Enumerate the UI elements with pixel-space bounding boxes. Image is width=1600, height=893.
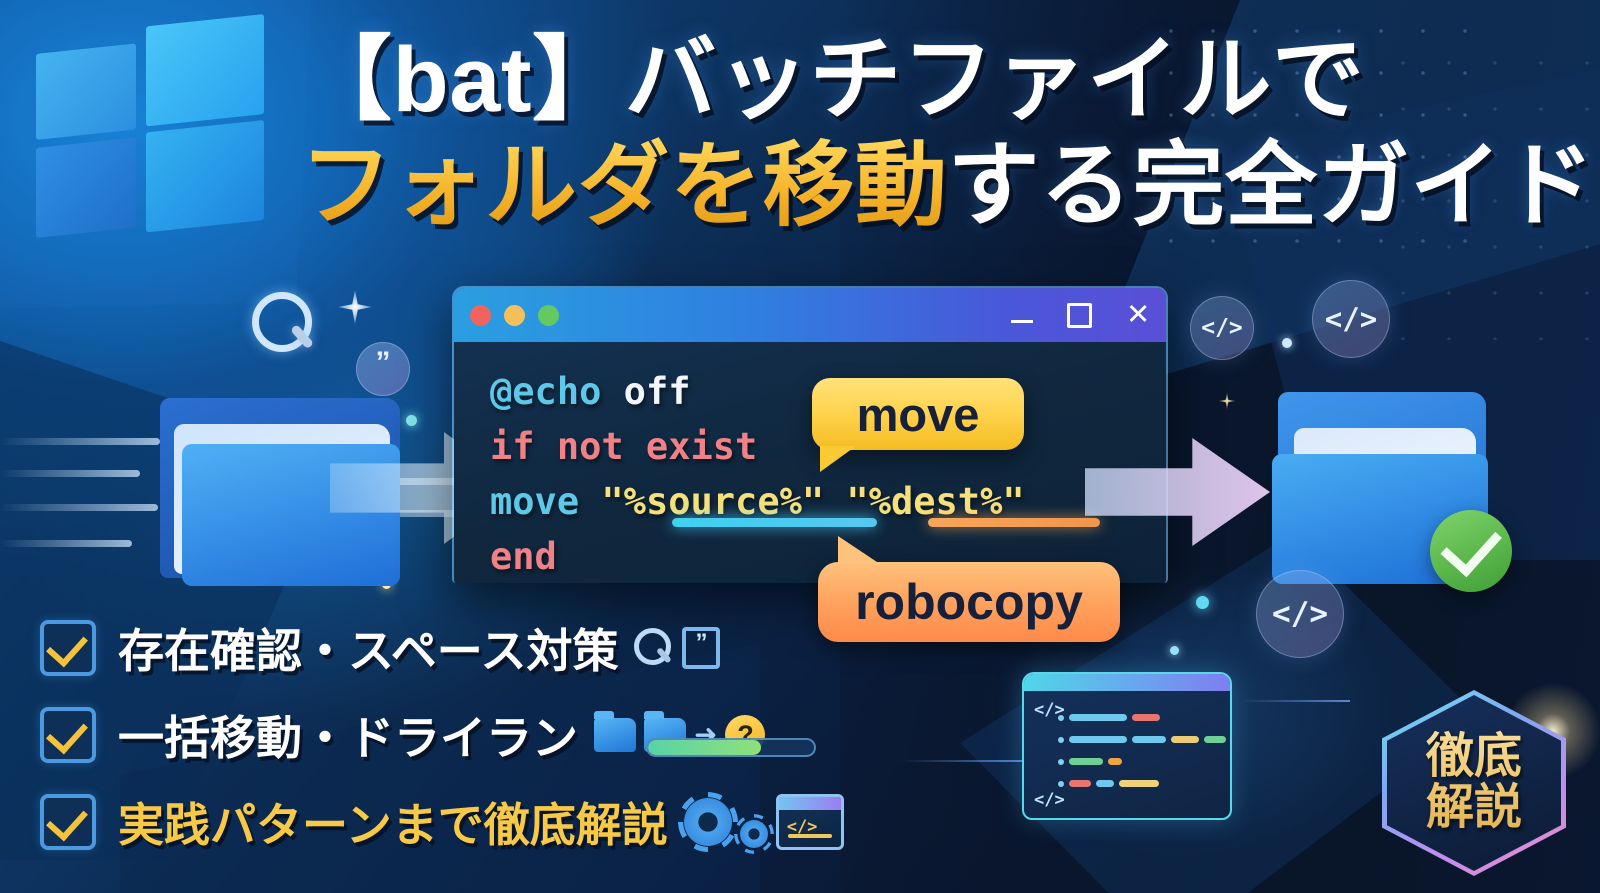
code-panel-bar: [1132, 736, 1166, 743]
code-panel-bar: [1069, 758, 1103, 765]
maximize-dot-icon[interactable]: [538, 305, 559, 326]
code-panel-row: [1058, 714, 1160, 721]
minimize-dot-icon[interactable]: [504, 305, 525, 326]
title-line-1: 【bat】バッチファイルで: [300, 34, 1590, 128]
list-item: 一括移動・ドライラン ➜ ?: [40, 699, 840, 771]
code-panel-tag-bottom: </>: [1034, 790, 1065, 810]
checkbox-icon: [40, 707, 96, 763]
neon-connector-1: [900, 760, 1030, 762]
code-panel-bar: [1132, 714, 1160, 721]
code-panel-row: [1058, 758, 1122, 765]
windows-logo: [36, 14, 264, 238]
minimize-icon[interactable]: [1011, 308, 1033, 323]
destination-folder-group: [1272, 392, 1512, 592]
dest-underline: [928, 518, 1100, 527]
move-badge[interactable]: move: [812, 378, 1024, 450]
checkbox-icon: [40, 794, 96, 850]
list-item: 存在確認・スペース対策 ”: [40, 612, 840, 684]
gear-small-icon: [740, 820, 768, 848]
code-token-echo: @echo: [490, 370, 601, 413]
hex-badge-line-1: 徹底: [1426, 733, 1522, 782]
terminal-window[interactable]: ✕ @echo off if not exist move "%source%"…: [452, 286, 1168, 583]
success-check-badge: [1430, 510, 1512, 592]
list-item: 実践パターンまで徹底解説 </>: [40, 786, 840, 858]
source-underline: [672, 518, 877, 527]
code-token-move: move: [490, 480, 601, 523]
page-title: 【bat】バッチファイルで フォルダを移動する完全ガイド: [300, 34, 1590, 234]
speed-line-3: [0, 504, 158, 511]
title-highlight: フォルダを移動: [300, 135, 948, 237]
code-window-line: [788, 834, 832, 838]
gear-icon: [684, 798, 732, 846]
code-panel-bullet: [1058, 715, 1064, 721]
code-icon-3: </>: [1256, 570, 1344, 658]
traffic-lights: [470, 305, 559, 326]
terminal-titlebar[interactable]: ✕: [454, 288, 1166, 342]
code-panel-bar: [1204, 736, 1226, 743]
code-icon-1: </>: [1190, 296, 1254, 360]
terminal-body: @echo off if not exist move "%source%" "…: [454, 342, 1166, 583]
windows-logo-pane-4: [146, 120, 264, 232]
speed-line-2: [0, 470, 140, 477]
title-rest: する完全ガイド: [948, 135, 1596, 237]
code-panel-bar: [1108, 758, 1122, 765]
windows-logo-pane-1: [36, 43, 136, 140]
code-window-titlebar: [779, 797, 841, 810]
list-item-label: 実践パターンまで徹底解説: [118, 789, 668, 855]
code-token-if: if not exist: [490, 425, 757, 468]
list-item-icons: </>: [684, 794, 844, 850]
code-window-icon: </>: [776, 794, 844, 850]
thumbnail-canvas: 【bat】バッチファイルで フォルダを移動する完全ガイド ”: [0, 0, 1600, 893]
windows-logo-pane-2: [146, 14, 264, 126]
code-panel-row: [1058, 780, 1159, 787]
code-token-args: "%source%" "%dest%": [601, 480, 1024, 523]
list-item-label: 一括移動・ドライラン: [118, 702, 578, 768]
code-panel-bullet: [1058, 737, 1064, 743]
code-panel-bar: [1096, 780, 1114, 787]
code-icon-2: </>: [1312, 280, 1390, 358]
hex-badge-text: 徹底 解説: [1382, 690, 1566, 876]
robocopy-badge[interactable]: robocopy: [818, 562, 1120, 642]
code-token-off: off: [601, 370, 690, 413]
code-panel-bar: [1069, 780, 1091, 787]
speed-line-1: [0, 438, 160, 445]
magnifier-icon: [634, 628, 674, 668]
code-panel-row: [1058, 736, 1226, 743]
hex-badge: 徹底 解説: [1382, 690, 1566, 876]
close-dot-icon[interactable]: [470, 305, 491, 326]
code-panel-bar: [1069, 714, 1127, 721]
decor-dot-3: [1282, 338, 1292, 348]
speed-line-4: [0, 540, 132, 547]
list-item-label: 存在確認・スペース対策: [118, 615, 618, 681]
maximize-icon[interactable]: [1067, 303, 1092, 328]
code-panel-bullet: [1058, 781, 1064, 787]
code-panel-bar: [1171, 736, 1199, 743]
code-panel-bullet: [1058, 759, 1064, 765]
folder-icon: [594, 718, 636, 752]
hex-badge-line-2: 解説: [1426, 784, 1522, 833]
list-item-icons: ”: [634, 627, 720, 669]
magnifier-icon: [252, 292, 314, 354]
code-panel-bar: [1069, 736, 1127, 743]
quote-bubble-icon: ”: [356, 342, 410, 396]
decor-dot-4: [1196, 596, 1209, 609]
window-controls: ✕: [1011, 303, 1150, 328]
title-line-2: フォルダを移動する完全ガイド: [300, 140, 1590, 234]
neon-connector-2: [1240, 700, 1350, 702]
progress-bar: [646, 738, 816, 757]
decor-dot-5: [1170, 646, 1179, 655]
windows-logo-pane-3: [36, 137, 136, 238]
progress-bar-fill: [648, 740, 761, 755]
code-panel-titlebar: [1024, 674, 1230, 691]
code-panel-bar: [1119, 780, 1159, 787]
quote-bracket-icon: ”: [682, 627, 720, 669]
close-icon[interactable]: ✕: [1126, 303, 1150, 327]
check-icon: [1440, 514, 1501, 577]
code-panel: </> </>: [1022, 672, 1232, 820]
code-token-end: end: [490, 535, 557, 578]
checkbox-icon: [40, 620, 96, 676]
